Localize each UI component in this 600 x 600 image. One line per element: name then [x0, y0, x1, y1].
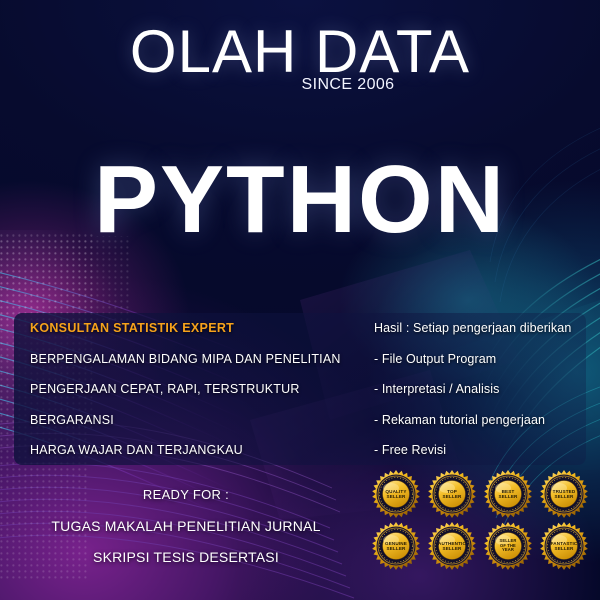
seller-badge: SELLEROF THEYEAR [483, 521, 533, 571]
seller-badge-label: FANTASTICSELLER [539, 521, 589, 571]
ready-for-line-1: TUGAS MAKALAH PENELITIAN JURNAL [0, 519, 372, 533]
results-heading: Hasil : Setiap pengerjaan diberikan [374, 322, 589, 335]
seller-badge-label: AUTHENTICSELLER [427, 521, 477, 571]
seller-badge-line: SELLER [442, 546, 461, 551]
ready-for-section: READY FOR : TUGAS MAKALAH PENELITIAN JUR… [0, 488, 372, 564]
seller-badge: BESTSELLER [483, 469, 533, 519]
seller-badge: GENUINESELLER [371, 521, 421, 571]
features-column: KONSULTAN STATISTIK EXPERT BERPENGALAMAN… [30, 322, 360, 475]
feature-item: BERGARANSI [30, 414, 360, 427]
poster-canvas: OLAH DATA SINCE 2006 PYTHON KONSULTAN ST… [0, 0, 600, 600]
features-heading: KONSULTAN STATISTIK EXPERT [30, 322, 360, 335]
since-label: SINCE 2006 [0, 76, 600, 94]
python-wordmark: PYTHON [0, 150, 600, 251]
seller-badge: TRUSTEDSELLER [539, 469, 589, 519]
feature-item: PENGERJAAN CEPAT, RAPI, TERSTRUKTUR [30, 383, 360, 396]
seller-badge-line: SELLER [554, 546, 573, 551]
seller-badge-line: SELLER [386, 494, 405, 499]
result-item: - File Output Program [374, 353, 589, 366]
results-column: Hasil : Setiap pengerjaan diberikan - Fi… [374, 322, 589, 475]
seller-badge-line: SELLER [386, 546, 405, 551]
seller-badge-line: SELLER [442, 494, 461, 499]
ready-for-line-2: SKRIPSI TESIS DESERTASI [0, 550, 372, 564]
seller-badge: QUALITYSELLER [371, 469, 421, 519]
result-item: - Free Revisi [374, 444, 589, 457]
result-item: - Rekaman tutorial pengerjaan [374, 414, 589, 427]
seller-badge-label: GENUINESELLER [371, 521, 421, 571]
seller-badge-label: TRUSTEDSELLER [539, 469, 589, 519]
seller-badge-grid: QUALITYSELLERTOPSELLERBESTSELLERTRUSTEDS… [368, 468, 592, 572]
seller-badge-label: TOPSELLER [427, 469, 477, 519]
seller-badge-label: BESTSELLER [483, 469, 533, 519]
seller-badge-label: SELLEROF THEYEAR [483, 521, 533, 571]
result-item: - Interpretasi / Analisis [374, 383, 589, 396]
seller-badge-line: YEAR [502, 548, 514, 553]
seller-badge-label: QUALITYSELLER [371, 469, 421, 519]
seller-badge: AUTHENTICSELLER [427, 521, 477, 571]
page-title: OLAH DATA [0, 22, 600, 82]
feature-item: BERPENGALAMAN BIDANG MIPA DAN PENELITIAN [30, 353, 360, 366]
ready-for-label: READY FOR : [0, 488, 372, 501]
feature-item: HARGA WAJAR DAN TERJANGKAU [30, 444, 360, 457]
seller-badge-line: SELLER [554, 494, 573, 499]
seller-badge-line: SELLER [498, 494, 517, 499]
seller-badge: FANTASTICSELLER [539, 521, 589, 571]
seller-badge: TOPSELLER [427, 469, 477, 519]
